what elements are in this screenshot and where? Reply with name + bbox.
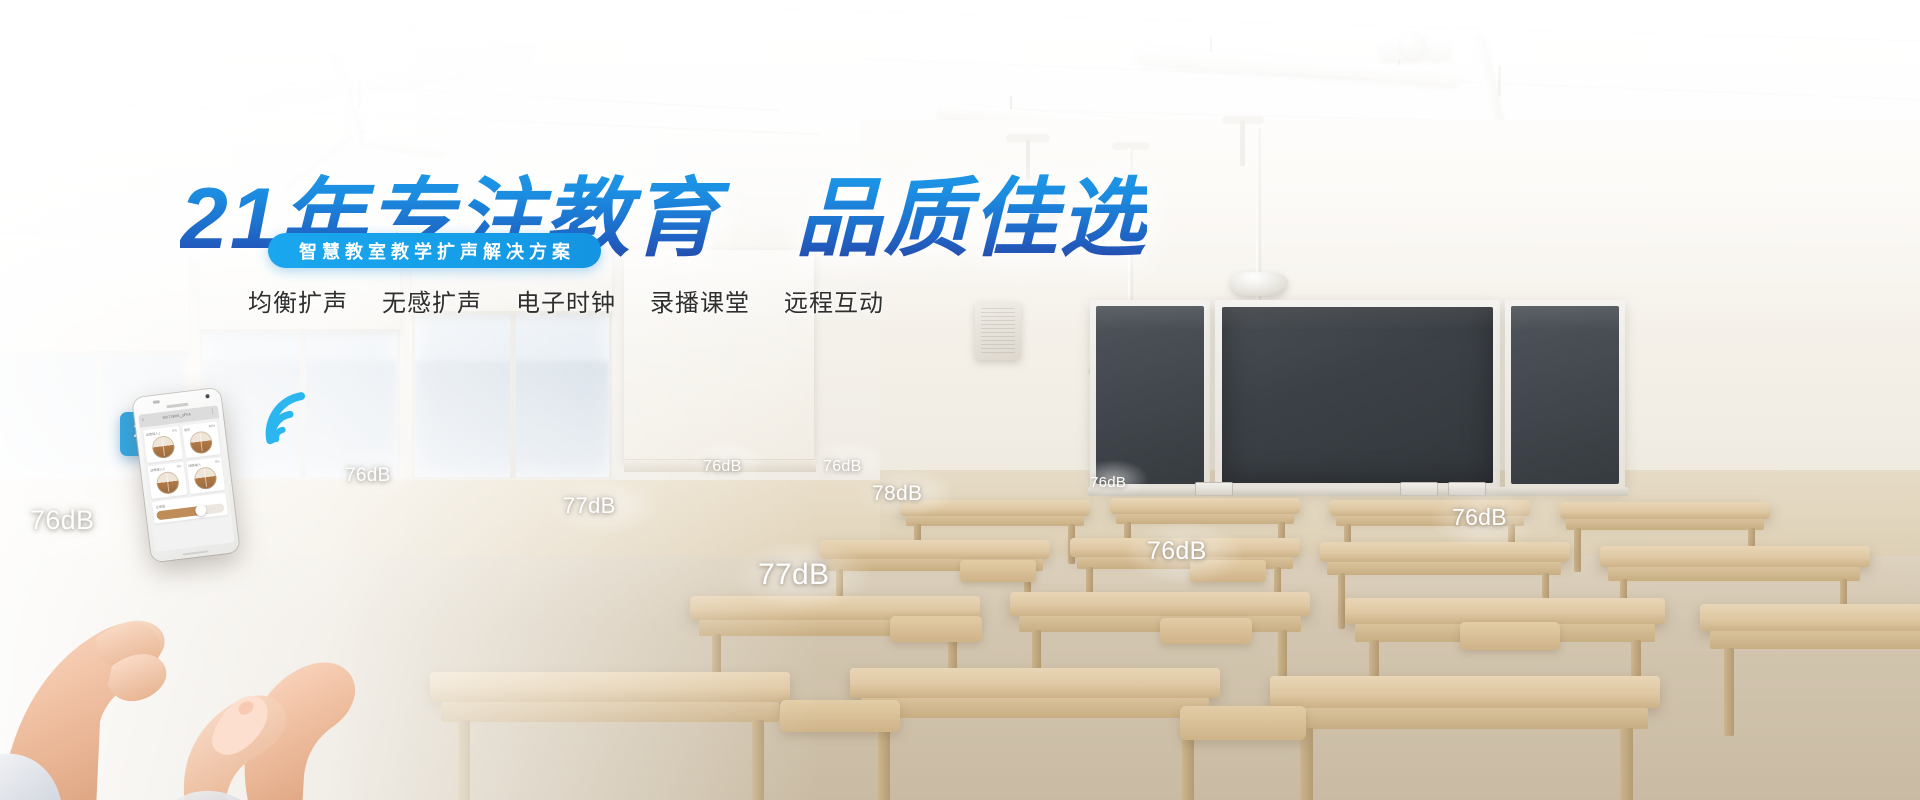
- card-title: 音乐: [184, 426, 191, 432]
- subtitle-pill: 智慧教室教学扩声解决方案: [268, 233, 601, 268]
- student-chair: [1460, 622, 1560, 650]
- card-meter-value: 0%: [177, 464, 182, 469]
- knob-dial[interactable]: [151, 434, 176, 459]
- card-meter-value: 0%: [215, 459, 220, 464]
- db-reading-5: 78dB: [872, 482, 922, 506]
- app-channel-card[interactable]: 音乐66%: [181, 421, 220, 458]
- student-chair: [1180, 706, 1306, 740]
- board-control-panel: [1195, 482, 1233, 496]
- subtitle-text: 智慧教室教学扩声解决方案: [294, 238, 575, 264]
- card-title: 话筒输入1: [145, 430, 160, 437]
- app-channel-card[interactable]: 话筒输入10%: [143, 426, 182, 463]
- wifi-signal-icon: [258, 381, 327, 447]
- feature-item-1: 无感扩声: [382, 283, 482, 318]
- feature-list: 均衡扩声无感扩声电子时钟录播课堂远程互动: [248, 283, 884, 318]
- headline-part-2: 品质佳选: [795, 171, 1147, 267]
- more-vertical-icon[interactable]: ⋮: [209, 408, 216, 415]
- feature-item-0: 均衡扩声: [248, 283, 348, 318]
- card-meter-value: 0%: [172, 428, 177, 433]
- student-chair: [1160, 618, 1252, 644]
- board-control-panel: [1400, 482, 1438, 496]
- phone-earpiece: [166, 403, 188, 408]
- db-reading-9: 76dB: [1452, 504, 1507, 531]
- student-chair: [890, 616, 982, 642]
- feature-item-4: 远程互动: [784, 283, 884, 318]
- hand-holding-phone: [0, 470, 420, 800]
- chalk-tray: [1088, 487, 1628, 496]
- chevron-left-icon[interactable]: ‹: [142, 417, 145, 423]
- db-reading-7: 77dB: [758, 558, 829, 592]
- db-reading-6: 76dB: [1090, 474, 1126, 491]
- knob-dial[interactable]: [189, 430, 214, 455]
- card-title: 线路输入: [188, 461, 201, 468]
- feature-item-2: 电子时钟: [516, 283, 616, 318]
- db-reading-4: 76dB: [823, 458, 862, 476]
- phone-proximity-sensor: [153, 400, 160, 404]
- db-reading-8: 76dB: [1147, 537, 1207, 566]
- feature-item-3: 录播课堂: [650, 283, 750, 318]
- banner-stage: 10:46:19: [0, 0, 1920, 800]
- db-reading-3: 76dB: [703, 458, 742, 476]
- phone-front-camera: [205, 394, 209, 398]
- db-reading-2: 77dB: [563, 493, 616, 519]
- card-meter-value: 66%: [209, 424, 216, 429]
- student-chair: [960, 560, 1036, 582]
